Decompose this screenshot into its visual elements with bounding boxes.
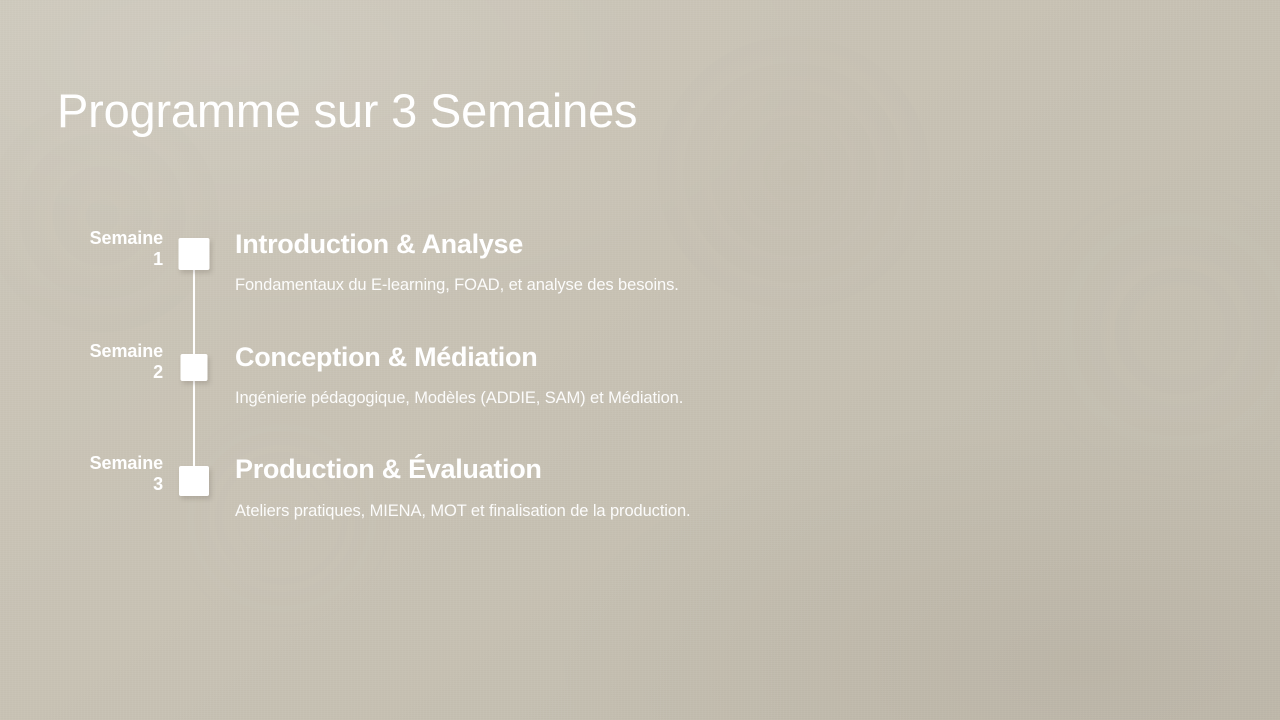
week-label-1: Semaine 1: [57, 228, 163, 270]
timeline-marker-column-1: [163, 228, 225, 341]
timeline-content-1: Introduction & Analyse Fondamentaux du E…: [225, 228, 957, 341]
timeline-marker-column-3: [163, 453, 225, 522]
week-number: 3: [57, 474, 163, 495]
timeline-description: Ateliers pratiques, MIENA, MOT et finali…: [235, 500, 957, 522]
timeline-item: Semaine 1 Introduction & Analyse Fondame…: [57, 228, 957, 341]
timeline-item: Semaine 3 Production & Évaluation Atelie…: [57, 453, 957, 522]
timeline-description: Fondamentaux du E-learning, FOAD, et ana…: [235, 274, 957, 296]
slide-canvas: Programme sur 3 Semaines Semaine 1 Intro…: [0, 0, 1280, 720]
timeline-heading: Introduction & Analyse: [235, 228, 957, 260]
week-number: 1: [57, 249, 163, 270]
week-label-text: Semaine: [90, 341, 163, 361]
page-title: Programme sur 3 Semaines: [57, 83, 637, 138]
timeline-description: Ingénierie pédagogique, Modèles (ADDIE, …: [235, 387, 957, 409]
timeline-marker-square-1: [179, 238, 210, 270]
timeline-marker-square-3: [179, 466, 209, 496]
timeline: Semaine 1 Introduction & Analyse Fondame…: [57, 228, 957, 522]
week-label-text: Semaine: [90, 228, 163, 248]
timeline-heading: Conception & Médiation: [235, 341, 957, 373]
week-label-2: Semaine 2: [57, 341, 163, 383]
timeline-heading: Production & Évaluation: [235, 453, 957, 485]
week-number: 2: [57, 362, 163, 383]
timeline-content-3: Production & Évaluation Ateliers pratiqu…: [225, 453, 957, 522]
timeline-content-2: Conception & Médiation Ingénierie pédago…: [225, 341, 957, 454]
timeline-marker-column-2: [163, 341, 225, 454]
timeline-item: Semaine 2 Conception & Médiation Ingénie…: [57, 341, 957, 454]
timeline-marker-square-2: [181, 354, 208, 381]
week-label-3: Semaine 3: [57, 453, 163, 495]
week-label-text: Semaine: [90, 453, 163, 473]
